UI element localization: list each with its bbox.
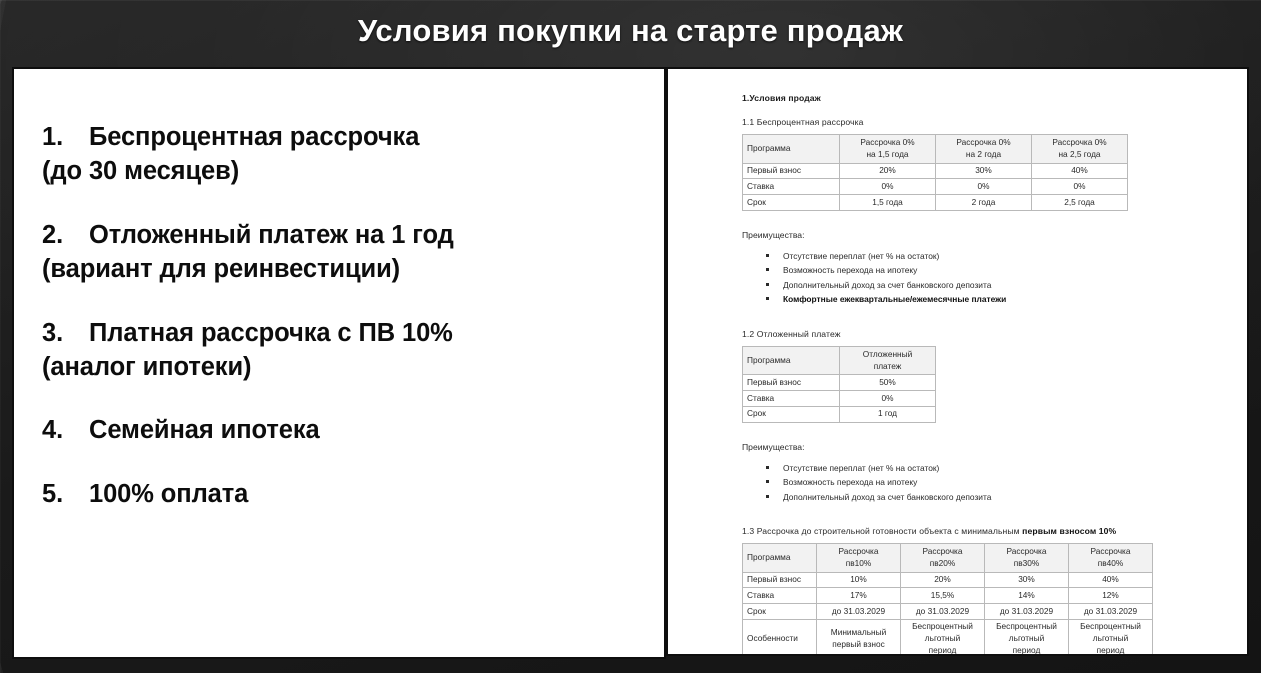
square-bullet-icon xyxy=(766,254,769,257)
list-item: Возможность перехода на ипотеку xyxy=(742,475,1164,489)
table-cell: 1,5 года xyxy=(840,195,936,211)
offer-title: 100% оплата xyxy=(89,478,648,512)
advantages-list: Отсутствие переплат (нет % на остаток) В… xyxy=(742,461,1164,504)
advantages-label: Преимущества: xyxy=(742,230,1164,240)
table-header-cell: Программа xyxy=(743,346,840,375)
sales-conditions-document: 1.Условия продаж 1.1 Беспроцентная расср… xyxy=(742,93,1164,656)
table-cell: Беспроцентный льготный период xyxy=(901,619,985,656)
list-item: 2. Отложенный платеж на 1 год (вариант д… xyxy=(42,219,648,287)
row-label: Срок xyxy=(743,406,840,422)
table-header-cell: Рассрочка 0% на 1,5 года xyxy=(840,135,936,164)
offer-title: Платная рассрочка с ПВ 10% xyxy=(89,317,648,351)
table-cell: 2 года xyxy=(936,195,1032,211)
installment-zero-percent-table: Программа Рассрочка 0% на 1,5 года Расср… xyxy=(742,134,1128,211)
square-bullet-icon xyxy=(766,480,769,483)
table-row: Ставка 17% 15,5% 14% 12% xyxy=(743,588,1153,604)
list-item: Дополнительный доход за счет банковского… xyxy=(742,490,1164,504)
list-item: Отсутствие переплат (нет % на остаток) xyxy=(742,249,1164,263)
offer-title: Отложенный платеж на 1 год xyxy=(89,219,648,253)
row-label: Особенности xyxy=(743,619,817,656)
list-item: Дополнительный доход за счет банковского… xyxy=(742,278,1164,292)
square-bullet-icon xyxy=(766,495,769,498)
table-header-cell: Рассрочка пв20% xyxy=(901,543,985,572)
table-cell: 0% xyxy=(936,179,1032,195)
table-cell: 20% xyxy=(901,572,985,588)
table-row: Срок 1,5 года 2 года 2,5 года xyxy=(743,195,1128,211)
square-bullet-icon xyxy=(766,297,769,300)
list-item: Комфортные ежеквартальные/ежемесячные пл… xyxy=(742,292,1164,306)
offer-number: 3. xyxy=(42,317,89,351)
table-cell: 40% xyxy=(1032,163,1128,179)
table-cell: Беспроцентный льготный период xyxy=(1069,619,1153,656)
table-row: Ставка 0% xyxy=(743,391,936,407)
row-label: Ставка xyxy=(743,588,817,604)
table-cell: 30% xyxy=(936,163,1032,179)
table-row: Срок до 31.03.2029 до 31.03.2029 до 31.0… xyxy=(743,604,1153,620)
offer-number: 2. xyxy=(42,219,89,253)
table-cell: 12% xyxy=(1069,588,1153,604)
row-label: Срок xyxy=(743,604,817,620)
row-label: Первый взнос xyxy=(743,572,817,588)
deferred-payment-table: Программа Отложенный платеж Первый взнос… xyxy=(742,346,936,423)
table-header-cell: Программа xyxy=(743,543,817,572)
right-document-panel: 1.Условия продаж 1.1 Беспроцентная расср… xyxy=(666,67,1249,656)
table-cell: 30% xyxy=(985,572,1069,588)
table-header-cell: Программа xyxy=(743,135,840,164)
table-cell: Беспроцентный льготный период xyxy=(985,619,1069,656)
row-label: Ставка xyxy=(743,179,840,195)
offer-number: 1. xyxy=(42,121,89,155)
table-cell: 20% xyxy=(840,163,936,179)
advantages-list: Отсутствие переплат (нет % на остаток) В… xyxy=(742,249,1164,307)
table-cell: 15,5% xyxy=(901,588,985,604)
offer-subtitle: (аналог ипотеки) xyxy=(42,351,648,385)
square-bullet-icon xyxy=(766,268,769,271)
table-header-cell: Рассрочка 0% на 2 года xyxy=(936,135,1032,164)
row-label: Первый взнос xyxy=(743,163,840,179)
table-cell: 50% xyxy=(840,375,936,391)
offer-subtitle: (вариант для реинвестиции) xyxy=(42,253,648,287)
table-row: Первый взнос 50% xyxy=(743,375,936,391)
page-title: Условия покупки на старте продаж xyxy=(358,13,903,49)
table-cell: 10% xyxy=(817,572,901,588)
paid-installment-table: Программа Рассрочка пв10% Рассрочка пв20… xyxy=(742,543,1153,656)
table-cell: 0% xyxy=(840,179,936,195)
table-cell: 14% xyxy=(985,588,1069,604)
square-bullet-icon xyxy=(766,466,769,469)
table-header-cell: Рассрочка пв30% xyxy=(985,543,1069,572)
offer-headline: 4. Семейная ипотека xyxy=(42,414,648,448)
table-row: Срок 1 год xyxy=(743,406,936,422)
list-item: Возможность перехода на ипотеку xyxy=(742,263,1164,277)
offer-subtitle: (до 30 месяцев) xyxy=(42,155,648,189)
offer-title: Беспроцентная рассрочка xyxy=(89,121,648,155)
table-header-cell: Рассрочка пв10% xyxy=(817,543,901,572)
row-label: Срок xyxy=(743,195,840,211)
slide-title-bar: Условия покупки на старте продаж xyxy=(0,0,1261,62)
table-cell: 1 год xyxy=(840,406,936,422)
table-cell: Минимальный первый взнос xyxy=(817,619,901,656)
table-cell: 40% xyxy=(1069,572,1153,588)
offer-number: 4. xyxy=(42,414,89,448)
document-heading: 1.Условия продаж xyxy=(742,93,1164,103)
offer-headline: 5. 100% оплата xyxy=(42,478,648,512)
table-header-row: Программа Отложенный платеж xyxy=(743,346,936,375)
advantages-label: Преимущества: xyxy=(742,442,1164,452)
offer-headline: 3. Платная рассрочка с ПВ 10% xyxy=(42,317,648,351)
table-cell: до 31.03.2029 xyxy=(1069,604,1153,620)
presentation-slide: Условия покупки на старте продаж 1. Бесп… xyxy=(0,0,1261,673)
offer-number: 5. xyxy=(42,478,89,512)
left-content-panel: 1. Беспроцентная рассрочка (до 30 месяце… xyxy=(12,67,666,659)
offer-headline: 2. Отложенный платеж на 1 год xyxy=(42,219,648,253)
square-bullet-icon xyxy=(766,283,769,286)
table-header-cell: Рассрочка пв40% xyxy=(1069,543,1153,572)
table-header-cell: Отложенный платеж xyxy=(840,346,936,375)
section-1-2-heading: 1.2 Отложенный платеж xyxy=(742,329,1164,339)
section-1-3-heading: 1.3 Рассрочка до строительной готовности… xyxy=(742,526,1164,536)
table-cell: до 31.03.2029 xyxy=(985,604,1069,620)
table-cell: 0% xyxy=(1032,179,1128,195)
offer-list: 1. Беспроцентная рассрочка (до 30 месяце… xyxy=(42,121,648,512)
row-label: Ставка xyxy=(743,391,840,407)
offer-title: Семейная ипотека xyxy=(89,414,648,448)
table-cell: до 31.03.2029 xyxy=(901,604,985,620)
table-row: Первый взнос 20% 30% 40% xyxy=(743,163,1128,179)
table-header-cell: Рассрочка 0% на 2,5 года xyxy=(1032,135,1128,164)
list-item: Отсутствие переплат (нет % на остаток) xyxy=(742,461,1164,475)
list-item: 3. Платная рассрочка с ПВ 10% (аналог ип… xyxy=(42,317,648,385)
table-header-row: Программа Рассрочка пв10% Рассрочка пв20… xyxy=(743,543,1153,572)
list-item: 5. 100% оплата xyxy=(42,478,648,512)
section-1-1-heading: 1.1 Беспроцентная рассрочка xyxy=(742,117,1164,127)
table-cell: до 31.03.2029 xyxy=(817,604,901,620)
list-item: 1. Беспроцентная рассрочка (до 30 месяце… xyxy=(42,121,648,189)
table-cell: 2,5 года xyxy=(1032,195,1128,211)
row-label: Первый взнос xyxy=(743,375,840,391)
table-row: Особенности Минимальный первый взнос Бес… xyxy=(743,619,1153,656)
table-header-row: Программа Рассрочка 0% на 1,5 года Расср… xyxy=(743,135,1128,164)
advantages-block-1: Преимущества: Отсутствие переплат (нет %… xyxy=(742,230,1164,307)
table-row: Первый взнос 10% 20% 30% 40% xyxy=(743,572,1153,588)
table-row: Ставка 0% 0% 0% xyxy=(743,179,1128,195)
offer-headline: 1. Беспроцентная рассрочка xyxy=(42,121,648,155)
list-item: 4. Семейная ипотека xyxy=(42,414,648,448)
advantages-block-2: Преимущества: Отсутствие переплат (нет %… xyxy=(742,442,1164,504)
table-cell: 0% xyxy=(840,391,936,407)
table-cell: 17% xyxy=(817,588,901,604)
